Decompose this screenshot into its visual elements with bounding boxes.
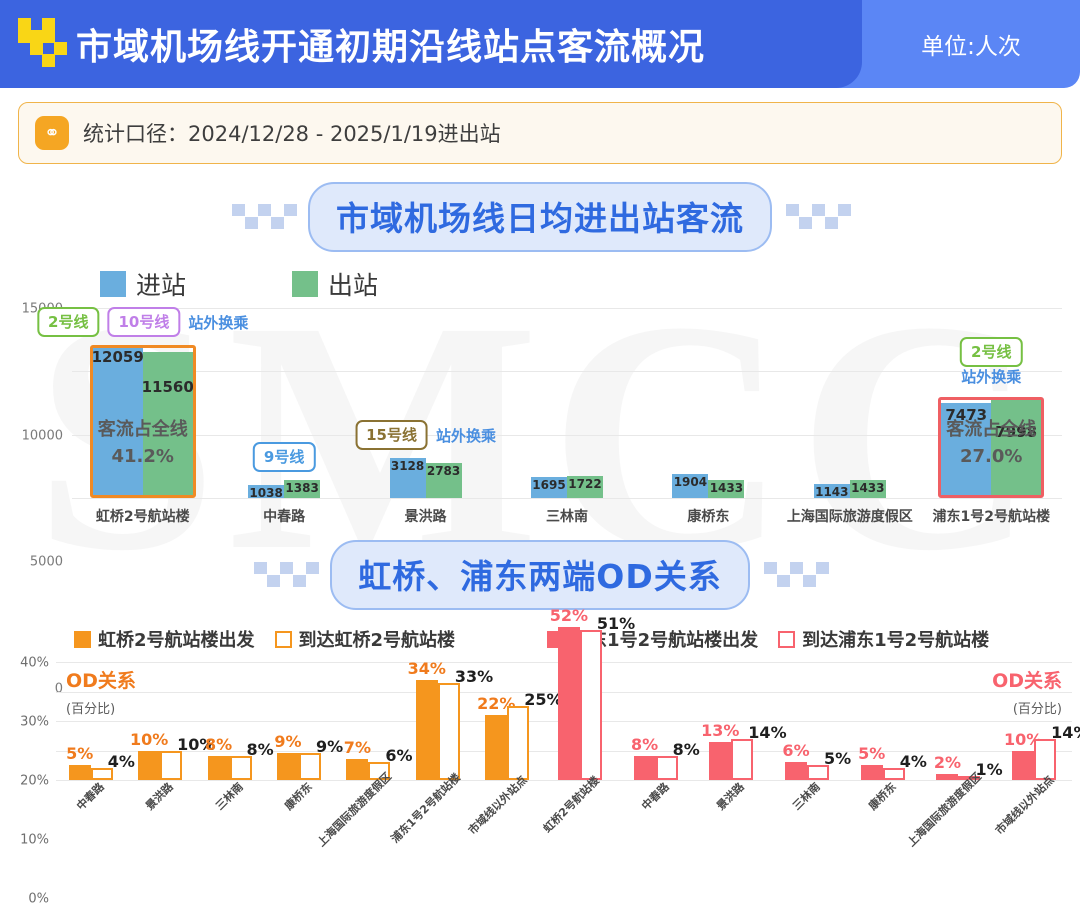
- od-bar-group: 6%5%三林南: [769, 662, 845, 780]
- od-bar-group: 8%8%三林南: [195, 662, 264, 780]
- scope-text: 统计口径：2024/12/28 - 2025/1/19进出站: [83, 118, 501, 148]
- section-1-title-row: 市域机场线日均进出站客流: [0, 182, 1080, 252]
- bar-value-label: 1383: [285, 481, 318, 495]
- legend-label-exit: 出站: [328, 266, 378, 302]
- od-x-axis-label: 景洪路: [713, 779, 748, 814]
- x-axis-label: 三林南: [546, 506, 588, 526]
- legend-item-entry: 进站: [100, 266, 186, 302]
- od-bar: 52%: [558, 627, 580, 780]
- od-bar: 7%: [346, 759, 368, 780]
- bar: 1383: [284, 480, 320, 498]
- bar-group: 1205911560客流占全线41.2%2号线10号线站外换乘虹桥2号航站楼: [72, 308, 213, 498]
- od-bar: 10%: [138, 751, 160, 781]
- od-bar-value-label: 13%: [701, 721, 739, 740]
- od-legend-swatch: [275, 631, 292, 648]
- od-x-axis-label: 康桥东: [865, 779, 900, 814]
- line-tag: 2号线: [37, 307, 99, 337]
- bar-group: 3128278315号线站外换乘景洪路: [355, 308, 496, 498]
- line-tag: 9号线: [253, 442, 315, 472]
- od-bar: 9%: [299, 753, 321, 780]
- od-bar-group: 5%4%康桥东: [845, 662, 921, 780]
- bar-value-label: 1695: [532, 478, 565, 492]
- od-bar-group: 8%8%中春路: [618, 662, 694, 780]
- od-bar: 9%: [277, 753, 299, 780]
- y-axis-tick: 0%: [28, 892, 56, 907]
- daily-passenger-bar-chart: 0500010000150001205911560客流占全线41.2%2号线10…: [72, 308, 1062, 498]
- od-bar-group: 9%9%康桥东: [264, 662, 333, 780]
- bar: 1722: [567, 476, 603, 498]
- od-x-axis-label: 市域线以外站点: [992, 772, 1058, 838]
- od-bar-group: 34%33%浦东1号2号航站楼: [403, 662, 472, 780]
- od-x-axis-label: 市域线以外站点: [465, 772, 531, 838]
- od-bar-group: 2%1%上海国际旅游度假区: [921, 662, 997, 780]
- x-axis-label: 康桥东: [687, 506, 729, 526]
- share-label: 客流占全线: [98, 419, 188, 440]
- od-bar: 10%: [160, 751, 182, 781]
- od-bar: 22%: [485, 715, 507, 780]
- bar-value-label: 1722: [568, 477, 601, 491]
- od-chart-hongqiao: 0%10%20%30%40%OD关系(百分比)5%4%中春路10%10%景洪路8…: [56, 662, 542, 780]
- bar-value-label: 1433: [851, 481, 884, 495]
- pixel-logo-icon: [18, 18, 64, 70]
- section-1-title: 市域机场线日均进出站客流: [308, 182, 772, 252]
- od-bar-value-label: 5%: [66, 744, 93, 763]
- share-value: 27.0%: [960, 446, 1022, 467]
- x-axis-label: 浦东1号2号航站楼: [932, 506, 1049, 526]
- x-axis-label: 虹桥2号航站楼: [96, 506, 190, 526]
- od-bar: 6%: [785, 762, 807, 780]
- od-charts-row: 0%10%20%30%40%OD关系(百分比)5%4%中春路10%10%景洪路8…: [56, 662, 1074, 780]
- od-bar: 8%: [208, 756, 230, 780]
- od-x-axis-label: 浦东1号2号航站楼: [387, 770, 464, 847]
- od-bar: 8%: [230, 756, 252, 780]
- x-axis-label: 上海国际旅游度假区: [787, 506, 913, 526]
- y-axis-tick: 40%: [20, 656, 56, 671]
- od-bar-groups: 5%4%中春路10%10%景洪路8%8%三林南9%9%康桥东7%6%上海国际旅游…: [56, 662, 542, 780]
- od-x-axis-label: 三林南: [211, 779, 246, 814]
- statistic-scope-banner: ⚭ 统计口径：2024/12/28 - 2025/1/19进出站: [18, 102, 1062, 164]
- page-title: 市域机场线开通初期沿线站点客流概况: [76, 18, 705, 70]
- unit-label: 单位:人次: [862, 0, 1080, 88]
- bar-group: 103813839号线中春路: [213, 308, 354, 498]
- bar-value-label: 1433: [710, 481, 743, 495]
- bar: 2783: [426, 463, 462, 498]
- od-legend-label: 到达浦东1号2号航站楼: [802, 626, 989, 652]
- transfer-note: 站外换乘: [961, 366, 1021, 389]
- od-bar-value-label: 34%: [408, 659, 446, 678]
- legend-label-entry: 进站: [136, 266, 186, 302]
- od-bar-value-label: 8%: [205, 735, 232, 754]
- od-bar: 33%: [438, 683, 460, 780]
- bar: 1433: [850, 480, 886, 498]
- bar: 1904: [672, 474, 708, 498]
- od-bar: 34%: [416, 680, 438, 780]
- legend-swatch-exit: [292, 271, 318, 297]
- od-bar-group: 7%6%上海国际旅游度假区: [334, 662, 403, 780]
- share-label: 客流占全线: [946, 419, 1036, 440]
- y-axis-tick: 10000: [22, 428, 72, 443]
- od-x-axis-label: 中春路: [73, 779, 108, 814]
- od-bar-value-label: 51%: [597, 614, 635, 633]
- od-bar: 14%: [731, 739, 753, 780]
- od-bar-value-label: 9%: [274, 732, 301, 751]
- od-legend-item: 到达虹桥2号航站楼: [275, 626, 456, 652]
- od-bar: 25%: [507, 706, 529, 780]
- od-bar-group: 10%14%市域线以外站点: [996, 662, 1072, 780]
- section-2-title: 虹桥、浦东两端OD关系: [330, 540, 749, 610]
- x-axis-label: 景洪路: [405, 506, 447, 526]
- legend-swatch-entry: [100, 271, 126, 297]
- od-bar-value-label: 10%: [130, 730, 168, 749]
- od-x-axis-label: 三林南: [789, 779, 824, 814]
- legend-item-exit: 出站: [292, 266, 378, 302]
- od-legend-item: 虹桥2号航站楼出发: [74, 626, 255, 652]
- bar-groups: 1205911560客流占全线41.2%2号线10号线站外换乘虹桥2号航站楼10…: [72, 308, 1062, 498]
- od-bar-value-label: 5%: [858, 744, 885, 763]
- od-legend-swatch: [74, 631, 91, 648]
- bar-value-label: 12059: [92, 348, 144, 366]
- od-x-axis-label: 景洪路: [142, 779, 177, 814]
- od-bar-value-label: 2%: [934, 753, 961, 772]
- od-legend-item: 到达浦东1号2号航站楼: [778, 626, 989, 652]
- line-tag: 10号线: [107, 307, 180, 337]
- od-chart-pudong: OD关系(百分比)52%51%虹桥2号航站楼8%8%中春路13%14%景洪路6%…: [542, 662, 1072, 780]
- infographic-page: 市域机场线开通初期沿线站点客流概况 单位:人次 ⚭ 统计口径：2024/12/2…: [0, 0, 1080, 872]
- od-legend-label: 到达虹桥2号航站楼: [299, 626, 456, 652]
- od-bar-value-label: 6%: [782, 741, 809, 760]
- y-axis-tick: 10%: [20, 833, 56, 848]
- od-bar: 8%: [634, 756, 656, 780]
- bar-value-label: 2783: [427, 464, 460, 478]
- bar: 1695: [531, 477, 567, 498]
- bar-group: 11431433上海国际旅游度假区: [779, 308, 920, 498]
- link-icon: ⚭: [35, 116, 69, 150]
- deco-pixels-left: [232, 204, 294, 230]
- od-bar-group: 13%14%景洪路: [693, 662, 769, 780]
- line-tag: 15号线: [355, 420, 428, 450]
- line-tag: 2号线: [960, 337, 1022, 367]
- od-bar-group: 52%51%虹桥2号航站楼: [542, 662, 618, 780]
- page-header: 市域机场线开通初期沿线站点客流概况 单位:人次: [0, 0, 1080, 88]
- od-bar: 51%: [580, 630, 602, 780]
- od-bar-group: 22%25%市域线以外站点: [473, 662, 542, 780]
- gridline: [542, 780, 1072, 781]
- bar-value-label: 1904: [674, 475, 707, 489]
- bar: 3128: [390, 458, 426, 498]
- transfer-note: 站外换乘: [436, 425, 496, 446]
- x-axis-label: 中春路: [263, 506, 305, 526]
- gridline: 0%: [56, 780, 542, 781]
- od-x-axis-label: 虹桥2号航站楼: [539, 773, 602, 836]
- od-legend-swatch: [778, 631, 795, 648]
- chart-1-legend: 进站 出站: [100, 266, 1080, 302]
- od-bar-group: 10%10%景洪路: [125, 662, 194, 780]
- od-bar: 5%: [861, 765, 883, 780]
- od-bar: 10%: [1012, 751, 1034, 781]
- bar: 1038: [248, 485, 284, 498]
- bar-group: 74737998客流占全线27.0%2号线站外换乘浦东1号2号航站楼: [921, 308, 1062, 498]
- od-bar: 4%: [91, 768, 113, 780]
- od-bar-value-label: 8%: [631, 735, 658, 754]
- scope-wrap: ⚭ 统计口径：2024/12/28 - 2025/1/19进出站: [0, 88, 1080, 164]
- od-bar-value-label: 14%: [1051, 723, 1080, 742]
- od-bar-group: 5%4%中春路: [56, 662, 125, 780]
- od-bar: 13%: [709, 742, 731, 780]
- od-bar-groups: 52%51%虹桥2号航站楼8%8%中春路13%14%景洪路6%5%三林南5%4%…: [542, 662, 1072, 780]
- bar: 1143: [814, 484, 850, 498]
- bar-value-label: 1143: [815, 485, 848, 499]
- y-axis-tick: 30%: [20, 715, 56, 730]
- header-title-block: 市域机场线开通初期沿线站点客流概况: [0, 0, 862, 88]
- bar-group: 19041433康桥东: [638, 308, 779, 498]
- deco-pixels-left-2: [254, 562, 316, 588]
- od-x-axis-label: 康桥东: [281, 779, 316, 814]
- od-bar: 4%: [883, 768, 905, 780]
- od-legend-label: 虹桥2号航站楼出发: [98, 626, 255, 652]
- od-bar: 2%: [936, 774, 958, 780]
- od-bar: 5%: [69, 765, 91, 780]
- bar-value-label: 3128: [391, 459, 424, 473]
- od-x-axis-label: 中春路: [637, 779, 672, 814]
- od-bar-value-label: 52%: [550, 606, 588, 625]
- od-bar-value-label: 7%: [344, 738, 371, 757]
- od-bar: 8%: [656, 756, 678, 780]
- gridline: 0: [72, 498, 1062, 499]
- share-value: 41.2%: [111, 446, 173, 467]
- deco-pixels-right: [786, 204, 848, 230]
- bar-group: 16951722三林南: [496, 308, 637, 498]
- y-axis-tick: 20%: [20, 774, 56, 789]
- section-2-title-row: 虹桥、浦东两端OD关系: [0, 540, 1080, 610]
- y-axis-tick: 5000: [30, 555, 72, 570]
- bar-value-label: 11560: [142, 378, 194, 396]
- od-bar: 5%: [807, 765, 829, 780]
- bar-value-label: 1038: [249, 486, 282, 500]
- deco-pixels-right-2: [764, 562, 826, 588]
- bar: 1433: [708, 480, 744, 498]
